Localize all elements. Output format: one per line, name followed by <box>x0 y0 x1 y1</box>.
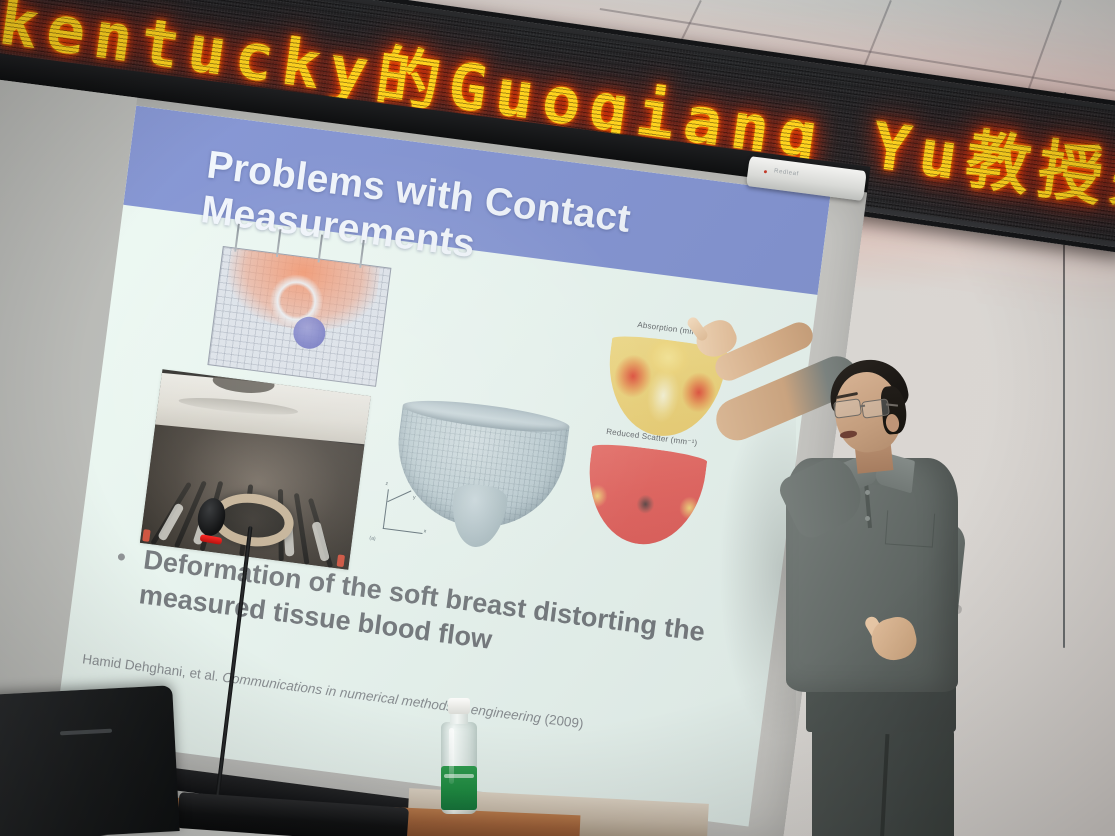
shirt-pocket <box>885 510 935 547</box>
axis-label-z: z <box>385 481 388 487</box>
bottle-cap <box>448 698 470 714</box>
lecture-hall-photo: of kentucky的Guoqiang Yu教授来我院学术交流 Problem… <box>0 0 1115 836</box>
wall-cable <box>1063 218 1065 648</box>
citation-author: Hamid Dehghani, et al. <box>82 651 220 684</box>
roller-brand-label: Redleaf <box>774 168 799 177</box>
citation-year: (2009) <box>544 711 585 731</box>
axis-label-y: y <box>413 495 416 501</box>
axis-label-x: x <box>423 528 426 534</box>
laptop-lid[interactable] <box>0 685 180 836</box>
figure-subcaption: (a) <box>369 535 376 542</box>
bottle-label <box>441 766 477 810</box>
bullet-text: Deformation of the soft breast distortin… <box>137 543 741 689</box>
figure-probe-ring-photo <box>140 369 371 570</box>
roller-led-icon <box>764 170 767 173</box>
water-bottle <box>437 698 481 816</box>
bullet-marker <box>118 553 126 561</box>
figure-breast-fem-mesh: z x y (a) <box>366 388 585 572</box>
citation-journal: Communications in numerical methods in e… <box>221 670 541 726</box>
presenter <box>690 330 990 836</box>
axis-triad: z x y <box>377 481 436 545</box>
